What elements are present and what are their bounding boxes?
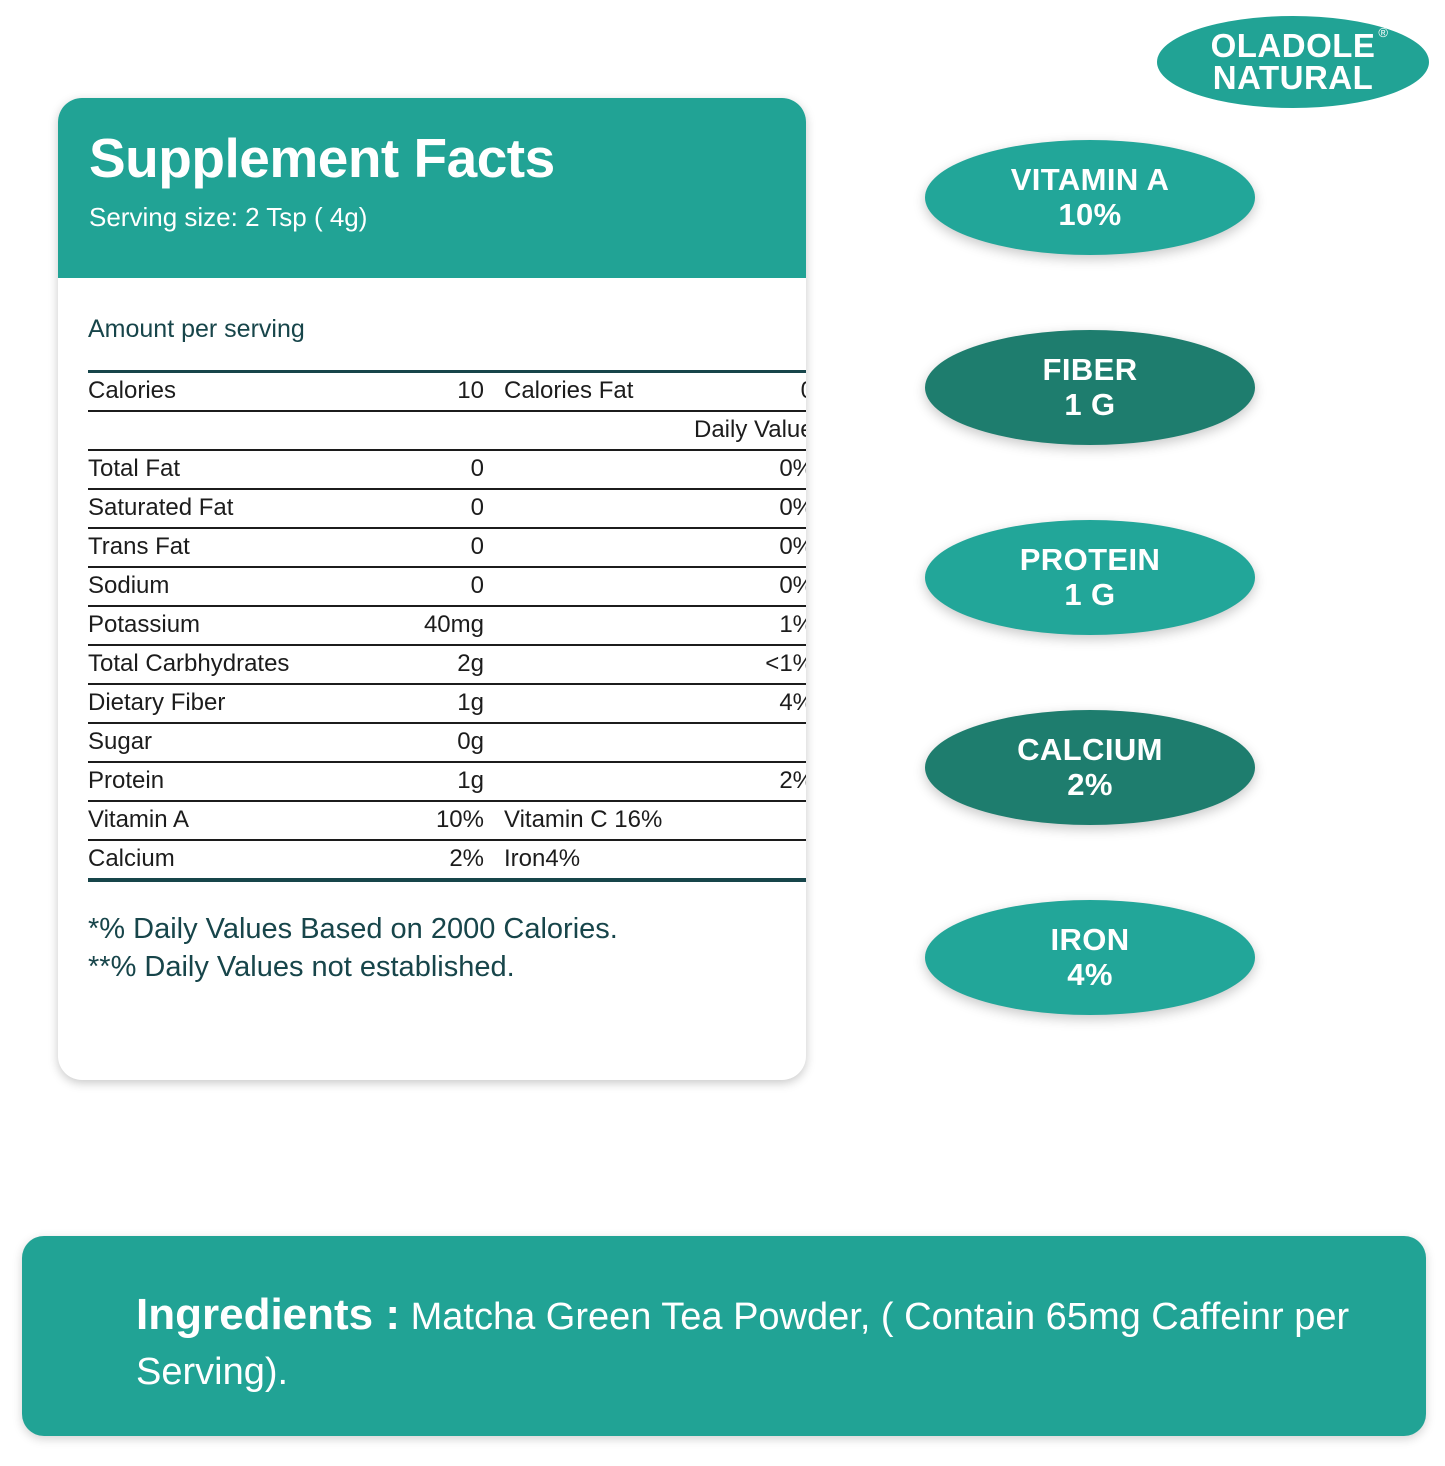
- nutrient-amount: 10%: [356, 801, 486, 840]
- footnote-not-established: **% Daily Values not established.: [88, 948, 786, 986]
- badge-value: 1 G: [1064, 388, 1115, 423]
- calories-label: Calories: [88, 372, 356, 412]
- nutrient-name: Calcium: [88, 840, 356, 880]
- nutrient-name: Potassium: [88, 606, 356, 645]
- nutrient-name: Protein: [88, 762, 356, 801]
- supplement-facts-body: Amount per serving Calories 10 Calories …: [58, 278, 806, 987]
- nutrient-daily-value: 2%: [694, 762, 806, 801]
- badge-value: 1 G: [1064, 578, 1115, 613]
- serving-size-text: Serving size: 2 Tsp ( 4g): [89, 202, 806, 233]
- amount-per-serving-label: Amount per serving: [88, 278, 786, 370]
- ingredients-banner: Ingredients : Matcha Green Tea Powder, (…: [22, 1236, 1426, 1436]
- nutrient-daily-value: <1%: [694, 645, 806, 684]
- nutrient-name: Trans Fat: [88, 528, 356, 567]
- nutrient-name: Total Fat: [88, 450, 356, 489]
- table-row-daily-value-header: Daily Value*: [88, 411, 806, 450]
- calories-value: 10: [356, 372, 486, 412]
- daily-value-header: Daily Value*: [694, 411, 806, 450]
- table-row: Saturated Fat 0 0%: [88, 489, 806, 528]
- brand-logo: OLADOLE® NATURAL: [1157, 16, 1429, 108]
- badge-name: FIBER: [1043, 353, 1138, 388]
- nutrient-daily-value: 0%: [694, 489, 806, 528]
- nutrient-amount: 0: [356, 489, 486, 528]
- nutrient-daily-value: [694, 840, 806, 880]
- calories-fat-value: 0: [694, 372, 806, 412]
- page-title: Supplement Facts: [89, 130, 806, 188]
- nutrient-extra: [486, 606, 694, 645]
- nutrient-extra: [486, 723, 694, 762]
- table-row: Dietary Fiber 1g 4%: [88, 684, 806, 723]
- nutrient-extra: [486, 567, 694, 606]
- supplement-facts-header: Supplement Facts Serving size: 2 Tsp ( 4…: [58, 98, 806, 278]
- footnotes: *% Daily Values Based on 2000 Calories. …: [88, 882, 786, 987]
- nutrient-amount: 0: [356, 567, 486, 606]
- nutrient-amount: 0: [356, 528, 486, 567]
- table-row-calories: Calories 10 Calories Fat 0: [88, 372, 806, 412]
- nutrient-amount: 0g: [356, 723, 486, 762]
- nutrient-amount: 1g: [356, 684, 486, 723]
- table-row: Sugar 0g: [88, 723, 806, 762]
- nutrient-extra: [486, 684, 694, 723]
- ingredients-text-block: Ingredients : Matcha Green Tea Powder, (…: [136, 1284, 1386, 1400]
- dv-header-spacer-3: [486, 411, 694, 450]
- nutrient-badge-list: VITAMIN A 10% FIBER 1 G PROTEIN 1 G CALC…: [925, 140, 1265, 1090]
- badge-value: 4%: [1067, 958, 1113, 993]
- nutrient-name: Saturated Fat: [88, 489, 356, 528]
- nutrient-amount: 1g: [356, 762, 486, 801]
- table-row: Calcium 2% Iron4%: [88, 840, 806, 880]
- nutrient-amount: 2g: [356, 645, 486, 684]
- badge-name: PROTEIN: [1020, 543, 1161, 578]
- nutrient-badge-vitamin-a: VITAMIN A 10%: [925, 140, 1255, 255]
- nutrient-daily-value: 1%: [694, 606, 806, 645]
- dv-header-spacer-2: [356, 411, 486, 450]
- nutrient-name: Dietary Fiber: [88, 684, 356, 723]
- table-row: Total Fat 0 0%: [88, 450, 806, 489]
- table-row: Vitamin A 10% Vitamin C 16%: [88, 801, 806, 840]
- nutrient-badge-fiber: FIBER 1 G: [925, 330, 1255, 445]
- nutrient-daily-value: 0%: [694, 450, 806, 489]
- nutrient-extra: [486, 645, 694, 684]
- brand-logo-line-1: OLADOLE®: [1211, 30, 1376, 62]
- table-row: Total Carbhydrates 2g <1%: [88, 645, 806, 684]
- nutrient-badge-protein: PROTEIN 1 G: [925, 520, 1255, 635]
- nutrient-name: Total Carbhydrates: [88, 645, 356, 684]
- registered-trademark-icon: ®: [1378, 27, 1388, 40]
- ingredients-label: Ingredients :: [136, 1290, 400, 1339]
- nutrient-amount: 40mg: [356, 606, 486, 645]
- nutrient-amount: 0: [356, 450, 486, 489]
- brand-logo-line-1-text: OLADOLE: [1211, 27, 1376, 64]
- nutrient-name: Sugar: [88, 723, 356, 762]
- badge-name: VITAMIN A: [1011, 163, 1170, 198]
- table-row: Sodium 0 0%: [88, 567, 806, 606]
- dv-header-spacer-1: [88, 411, 356, 450]
- badge-value: 2%: [1067, 768, 1113, 803]
- nutrient-daily-value: 0%: [694, 567, 806, 606]
- nutrient-extra: [486, 489, 694, 528]
- badge-name: CALCIUM: [1017, 733, 1163, 768]
- nutrient-badge-iron: IRON 4%: [925, 900, 1255, 1015]
- nutrient-name: Vitamin A: [88, 801, 356, 840]
- nutrient-badge-calcium: CALCIUM 2%: [925, 710, 1255, 825]
- table-row: Potassium 40mg 1%: [88, 606, 806, 645]
- supplement-facts-card: Supplement Facts Serving size: 2 Tsp ( 4…: [58, 98, 806, 1080]
- calories-fat-label: Calories Fat: [486, 372, 694, 412]
- badge-name: IRON: [1050, 923, 1129, 958]
- table-row: Trans Fat 0 0%: [88, 528, 806, 567]
- nutrient-amount: 2%: [356, 840, 486, 880]
- nutrient-extra: Iron4%: [486, 840, 694, 880]
- nutrient-extra: Vitamin C 16%: [486, 801, 694, 840]
- nutrient-daily-value: [694, 723, 806, 762]
- nutrient-daily-value: [694, 801, 806, 840]
- nutrient-name: Sodium: [88, 567, 356, 606]
- table-row: Protein 1g 2%: [88, 762, 806, 801]
- footnote-daily-values: *% Daily Values Based on 2000 Calories.: [88, 910, 786, 948]
- badge-value: 10%: [1058, 198, 1121, 233]
- nutrient-extra: [486, 762, 694, 801]
- nutrient-extra: [486, 450, 694, 489]
- nutrient-daily-value: 0%: [694, 528, 806, 567]
- brand-logo-line-2: NATURAL: [1213, 62, 1374, 94]
- nutrition-table: Calories 10 Calories Fat 0 Daily Value* …: [88, 370, 806, 882]
- nutrient-daily-value: 4%: [694, 684, 806, 723]
- nutrient-extra: [486, 528, 694, 567]
